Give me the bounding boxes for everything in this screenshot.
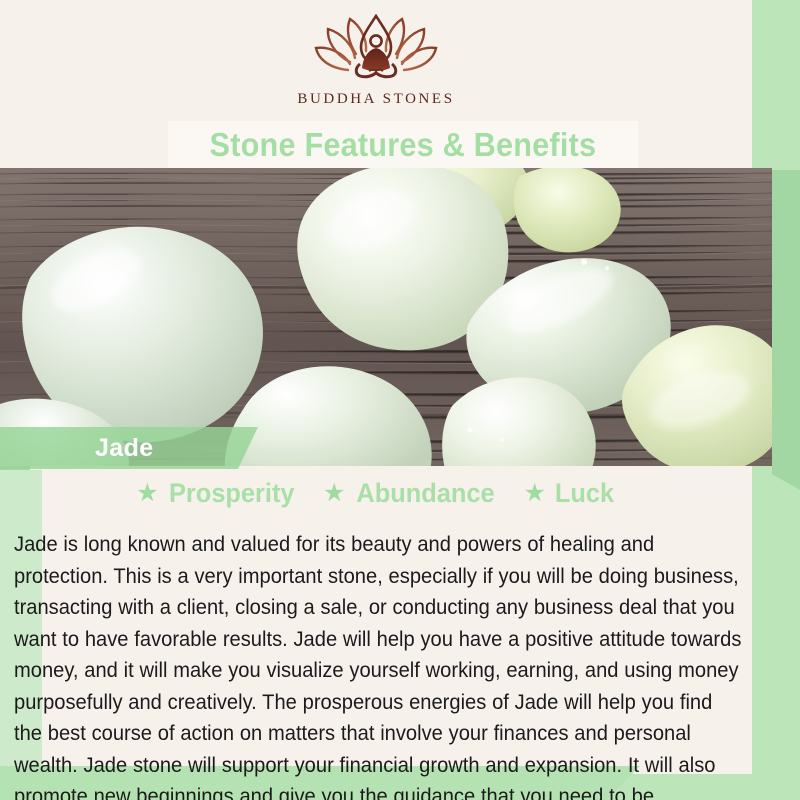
benefit-item-abundance: ★ Abundance xyxy=(323,478,499,509)
benefits-row: ★ Prosperity ★ Abundance ★ Luck xyxy=(0,476,752,510)
benefit-label: Luck xyxy=(555,478,614,509)
jade-stones-photo xyxy=(0,168,772,466)
brand-header: BUDDHA STONES xyxy=(0,0,752,122)
stone-name-badge: Jade xyxy=(0,427,258,469)
section-title-banner: Stone Features & Benefits xyxy=(168,121,638,168)
brand-name: BUDDHA STONES xyxy=(297,91,454,108)
benefit-label: Abundance xyxy=(357,478,495,509)
star-icon: ★ xyxy=(323,481,345,506)
stone-description: Jade is long known and valued for its be… xyxy=(14,529,744,800)
benefit-item-prosperity: ★ Prosperity xyxy=(136,478,299,509)
lotus-meditation-logo-icon xyxy=(308,14,444,85)
star-icon: ★ xyxy=(523,481,545,506)
page-title: Stone Features & Benefits xyxy=(210,126,597,164)
infographic-card: BUDDHA STONES xyxy=(0,0,800,800)
green-accent-right xyxy=(772,170,800,490)
benefit-label: Prosperity xyxy=(169,478,295,509)
star-icon: ★ xyxy=(136,481,158,506)
stone-name-label: Jade xyxy=(95,434,154,463)
benefit-item-luck: ★ Luck xyxy=(523,478,615,509)
